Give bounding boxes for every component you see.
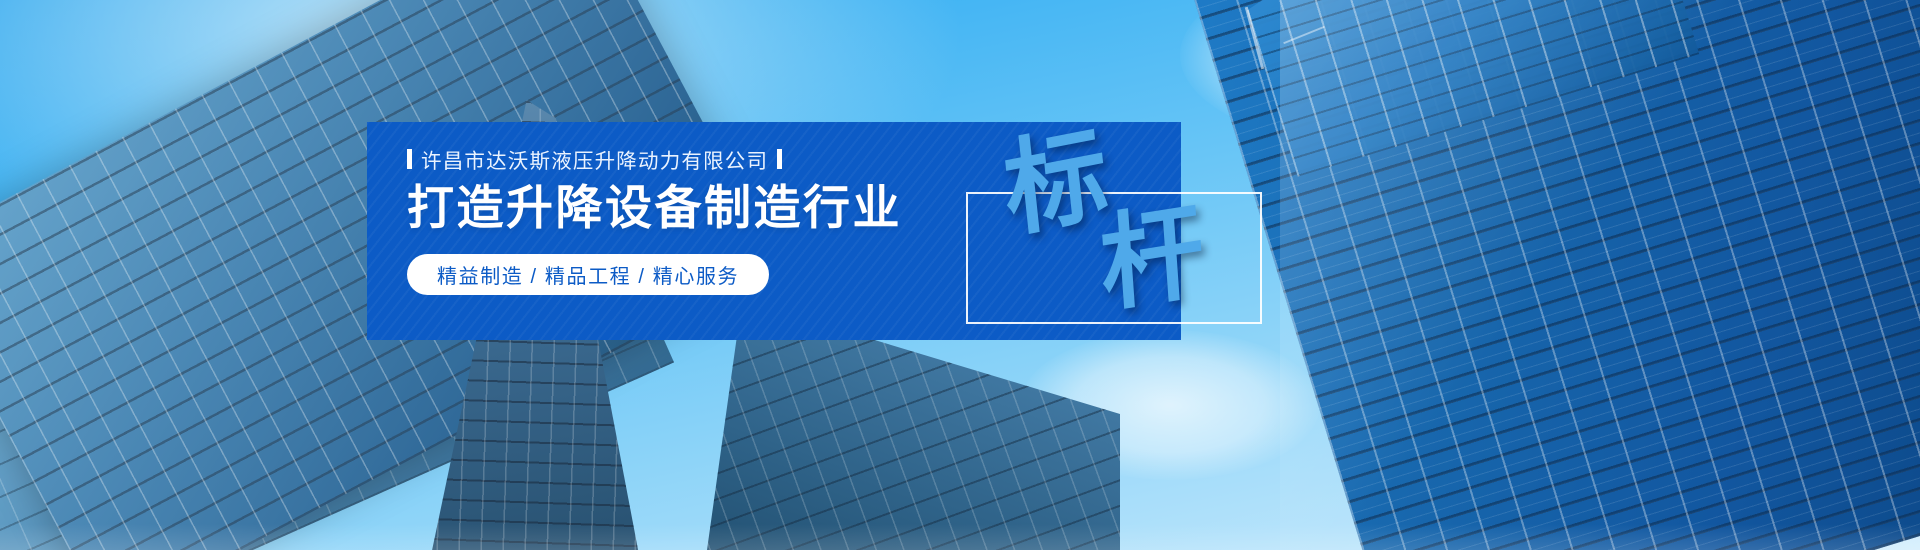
- company-name: 许昌市达沃斯液压升降动力有限公司: [421, 144, 768, 174]
- calligraphy-char-biao: 标: [999, 120, 1112, 244]
- hero-banner: 许昌市达沃斯液压升降动力有限公司 打造升降设备制造行业 精益制造 / 精品工程 …: [0, 0, 1920, 550]
- tick-mark-right-icon: [777, 149, 782, 169]
- tick-mark-left-icon: [407, 149, 412, 169]
- slogan-pill[interactable]: 精益制造 / 精品工程 / 精心服务: [407, 254, 769, 295]
- calligraphy-mark-area: 标 杆: [960, 130, 1290, 330]
- calligraphy-char-gan: 杆: [1097, 198, 1207, 318]
